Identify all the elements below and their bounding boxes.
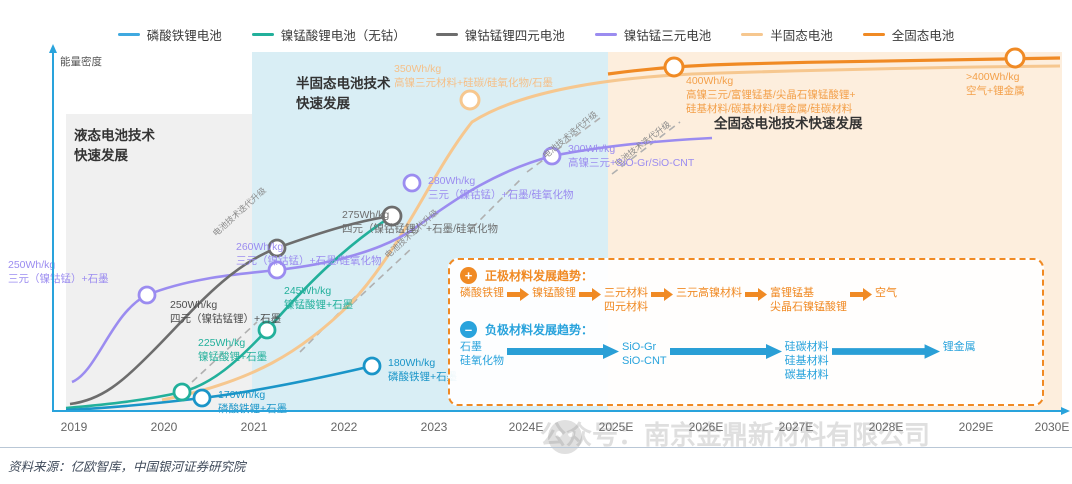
x-tick: 2030E bbox=[1035, 420, 1070, 434]
annotation-400plus: >400Wh/kg 空气+锂金属 bbox=[966, 70, 1025, 98]
anode-step: SiO-Gr SiO-CNT bbox=[622, 340, 667, 369]
minus-icon: – bbox=[460, 321, 477, 338]
y-axis bbox=[52, 52, 54, 412]
legend-swatch bbox=[863, 33, 885, 36]
footer-divider bbox=[0, 447, 1072, 448]
cathode-step: 空气 bbox=[875, 286, 897, 300]
anode-step: 锂金属 bbox=[943, 340, 976, 354]
x-tick: 2019 bbox=[61, 420, 88, 434]
marker-280 bbox=[404, 175, 420, 191]
legend-label: 半固态电池 bbox=[770, 25, 833, 44]
x-axis bbox=[52, 410, 1062, 412]
annotation-value: 275Wh/kg bbox=[342, 208, 498, 222]
annotation-180: 180Wh/kg 磷酸铁锂+石墨 bbox=[388, 356, 457, 384]
annotation-detail: 空气+锂金属 bbox=[966, 84, 1025, 98]
x-tick: 2020 bbox=[151, 420, 178, 434]
marker-250-purple bbox=[139, 287, 155, 303]
annotation-value: 260Wh/kg bbox=[236, 240, 382, 254]
legend-swatch bbox=[595, 33, 617, 36]
annotation-value: 350Wh/kg bbox=[394, 62, 553, 76]
marker-400 bbox=[665, 58, 683, 76]
annotation-detail: 三元（镍钴锰）+石墨/硅氧化物 bbox=[428, 188, 574, 202]
legend-item-all-solid[interactable]: 全固态电池 bbox=[863, 25, 955, 44]
chart-legend: 磷酸铁锂电池 镍锰酸锂电池（无钴） 镍钴锰锂四元电池 镍钴锰三元电池 半固态电池… bbox=[0, 22, 1072, 46]
annotation-detail: 三元（镍钴锰）+石墨 bbox=[8, 272, 109, 286]
annotation-250-ncm: 250Wh/kg 三元（镍钴锰）+石墨 bbox=[8, 258, 109, 286]
cathode-title: 正极材料发展趋势： bbox=[485, 267, 593, 284]
legend-label: 镍锰酸锂电池（无钴） bbox=[281, 25, 406, 44]
x-tick: 2023 bbox=[421, 420, 448, 434]
anode-step: 石墨 硅氧化物 bbox=[460, 340, 504, 369]
anode-header: – 负极材料发展趋势： bbox=[460, 321, 1032, 338]
arrow-right-icon bbox=[832, 344, 940, 359]
annotation-275: 275Wh/kg 四元（镍钴锰锂）+石墨/硅氧化物 bbox=[342, 208, 498, 236]
x-tick: 2024E bbox=[509, 420, 544, 434]
arrow-right-icon bbox=[745, 288, 767, 301]
anode-steps: 石墨 硅氧化物 SiO-Gr SiO-CNT 硅碳材料 硅基材料 碳基材料 锂金… bbox=[460, 340, 1032, 383]
chart-page: 磷酸铁锂电池 镍锰酸锂电池（无钴） 镍钴锰锂四元电池 镍钴锰三元电池 半固态电池… bbox=[0, 0, 1072, 484]
annotation-value: 245Wh/kg bbox=[284, 284, 353, 298]
annotation-value: >400Wh/kg bbox=[966, 70, 1025, 84]
marker-170 bbox=[194, 390, 210, 406]
marker-350 bbox=[461, 91, 479, 109]
annotation-value: 180Wh/kg bbox=[388, 356, 457, 370]
annotation-250-quaternary: 250Wh/kg 四元（镍钴锰锂）+石墨 bbox=[170, 298, 281, 326]
legend-swatch bbox=[436, 33, 458, 36]
annotation-170: 170Wh/kg 磷酸铁锂+石墨 bbox=[218, 388, 287, 416]
annotation-260: 260Wh/kg 三元（镍钴锰）+石墨/硅氧化物 bbox=[236, 240, 382, 268]
arrow-right-icon bbox=[651, 288, 673, 301]
cathode-step: 富锂锰基 尖晶石镍锰酸锂 bbox=[770, 286, 847, 315]
legend-swatch bbox=[741, 33, 763, 36]
legend-item-ncml[interactable]: 镍钴锰锂四元电池 bbox=[436, 25, 565, 44]
legend-label: 全固态电池 bbox=[892, 25, 955, 44]
annotation-value: 300Wh/kg bbox=[568, 142, 694, 156]
annotation-detail: 高镍三元+SiO-Gr/SiO-CNT bbox=[568, 156, 694, 170]
legend-item-lfp[interactable]: 磷酸铁锂电池 bbox=[118, 25, 222, 44]
annotation-detail: 四元（镍钴锰锂）+石墨 bbox=[170, 312, 281, 326]
legend-swatch bbox=[252, 33, 274, 36]
marker-400plus bbox=[1006, 49, 1024, 67]
legend-label: 镍钴锰锂四元电池 bbox=[465, 25, 565, 44]
annotation-225: 225Wh/kg 镍锰酸锂+石墨 bbox=[198, 336, 267, 364]
legend-item-ncm[interactable]: 镍钴锰三元电池 bbox=[595, 25, 712, 44]
legend-label: 磷酸铁锂电池 bbox=[147, 25, 222, 44]
source-note: 资料来源：亿欧智库，中国银河证券研究院 bbox=[8, 456, 246, 475]
cathode-step: 磷酸铁锂 bbox=[460, 286, 504, 300]
x-tick: 2021 bbox=[241, 420, 268, 434]
cathode-header: + 正极材料发展趋势： bbox=[460, 267, 1032, 284]
annotation-280: 280Wh/kg 三元（镍钴锰）+石墨/硅氧化物 bbox=[428, 174, 574, 202]
annotation-detail: 镍锰酸锂+石墨 bbox=[198, 350, 267, 364]
annotation-value: 250Wh/kg bbox=[8, 258, 109, 272]
annotation-value: 170Wh/kg bbox=[218, 388, 287, 402]
marker-225 bbox=[174, 384, 190, 400]
arrow-right-icon bbox=[507, 344, 619, 359]
annotation-300: 300Wh/kg 高镍三元+SiO-Gr/SiO-CNT bbox=[568, 142, 694, 170]
cathode-step: 三元高镍材料 bbox=[676, 286, 742, 300]
legend-label: 镍钴锰三元电池 bbox=[624, 25, 712, 44]
cathode-step: 三元材料 四元材料 bbox=[604, 286, 648, 315]
annotation-detail: 高镍三元材料+硅碳/硅氧化物/石墨 bbox=[394, 76, 553, 90]
marker-180 bbox=[364, 358, 380, 374]
arrow-right-icon bbox=[850, 288, 872, 301]
annotation-detail: 镍锰酸锂+石墨 bbox=[284, 298, 353, 312]
x-tick: 2029E bbox=[959, 420, 994, 434]
legend-item-lnmo[interactable]: 镍锰酸锂电池（无钴） bbox=[252, 25, 406, 44]
cathode-steps: 磷酸铁锂 镍锰酸锂 三元材料 四元材料 三元高镍材料 富锂锰基 尖晶石镍锰酸锂 … bbox=[460, 286, 1032, 315]
annotation-detail: 高镍三元/富锂锰基/尖晶石镍锰酸锂+ 硅基材料/碳基材料/锂金属/硅碳材料 bbox=[686, 88, 855, 116]
annotation-245: 245Wh/kg 镍锰酸锂+石墨 bbox=[284, 284, 353, 312]
annotation-value: 225Wh/kg bbox=[198, 336, 267, 350]
annotation-detail: 三元（镍钴锰）+石墨/硅氧化物 bbox=[236, 254, 382, 268]
annotation-detail: 四元（镍钴锰锂）+石墨/硅氧化物 bbox=[342, 222, 498, 236]
plus-icon: + bbox=[460, 267, 477, 284]
annotation-detail: 磷酸铁锂+石墨 bbox=[388, 370, 457, 384]
annotation-value: 400Wh/kg bbox=[686, 74, 855, 88]
arrow-right-icon bbox=[579, 288, 601, 301]
anode-title: 负极材料发展趋势： bbox=[485, 321, 593, 338]
anode-step: 硅碳材料 硅基材料 碳基材料 bbox=[785, 340, 829, 383]
materials-trend-box: + 正极材料发展趋势： 磷酸铁锂 镍锰酸锂 三元材料 四元材料 三元高镍材料 富… bbox=[448, 258, 1044, 406]
legend-swatch bbox=[118, 33, 140, 36]
x-tick: 2022 bbox=[331, 420, 358, 434]
annotation-value: 250Wh/kg bbox=[170, 298, 281, 312]
annotation-value: 280Wh/kg bbox=[428, 174, 574, 188]
cathode-step: 镍锰酸锂 bbox=[532, 286, 576, 300]
annotation-350: 350Wh/kg 高镍三元材料+硅碳/硅氧化物/石墨 bbox=[394, 62, 553, 90]
legend-item-semi-solid[interactable]: 半固态电池 bbox=[741, 25, 833, 44]
arrow-right-icon bbox=[507, 288, 529, 301]
arrow-right-icon bbox=[670, 344, 782, 359]
y-axis-label: 能量密度 bbox=[60, 54, 102, 69]
annotation-400: 400Wh/kg 高镍三元/富锂锰基/尖晶石镍锰酸锂+ 硅基材料/碳基材料/锂金… bbox=[686, 74, 855, 117]
